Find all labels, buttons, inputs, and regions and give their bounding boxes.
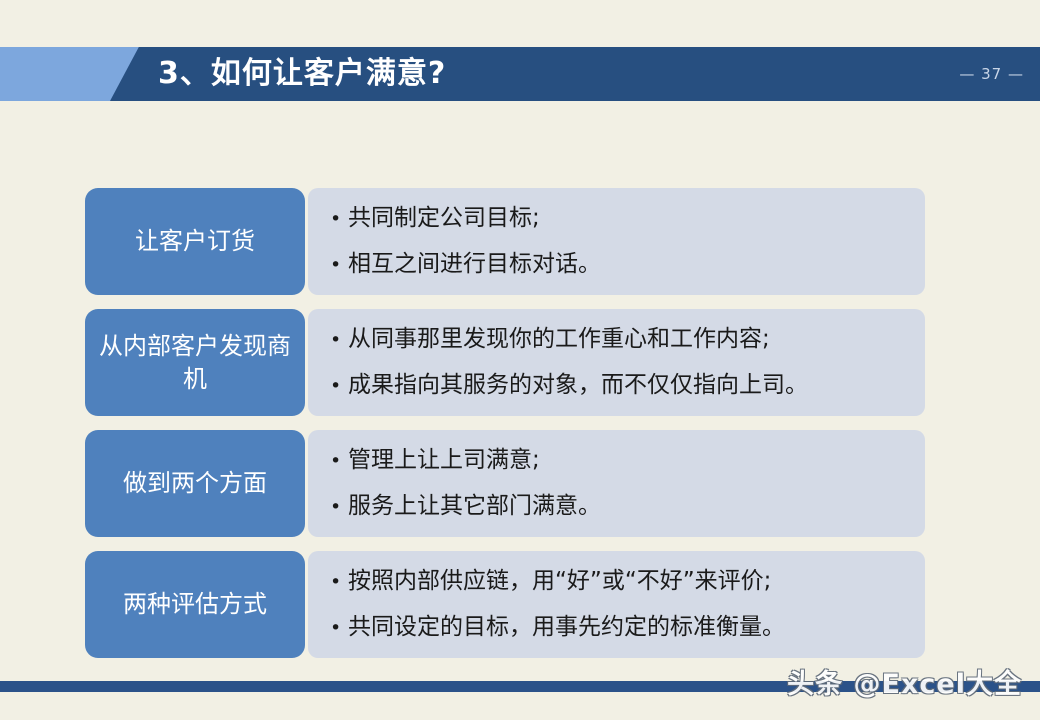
page-number: — 37 — xyxy=(959,47,1024,101)
bullet-text: 从同事那里发现你的工作重心和工作内容; xyxy=(348,324,907,355)
bullet-dot-icon: • xyxy=(330,619,348,638)
row-label: 两种评估方式 xyxy=(85,551,305,658)
bullet-dot-icon: • xyxy=(330,331,348,350)
content-rows: 让客户订货 • 共同制定公司目标; • 相互之间进行目标对话。 从内部客户发现商… xyxy=(85,188,925,672)
bullet-text: 成果指向其服务的对象，而不仅仅指向上司。 xyxy=(348,370,907,401)
bullet-item: • 共同设定的目标，用事先约定的标准衡量。 xyxy=(330,605,907,650)
bullet-text: 共同设定的目标，用事先约定的标准衡量。 xyxy=(348,612,907,643)
slide: 3、如何让客户满意? — 37 — 让客户订货 • 共同制定公司目标; • 相互… xyxy=(0,0,1040,720)
row-content: • 从同事那里发现你的工作重心和工作内容; • 成果指向其服务的对象，而不仅仅指… xyxy=(308,309,925,416)
bullet-item: • 共同制定公司目标; xyxy=(330,196,907,241)
bullet-dot-icon: • xyxy=(330,498,348,517)
bullet-dot-icon: • xyxy=(330,377,348,396)
row-label: 让客户订货 xyxy=(85,188,305,295)
bullet-item: • 服务上让其它部门满意。 xyxy=(330,484,907,529)
bullet-item: • 相互之间进行目标对话。 xyxy=(330,242,907,287)
slide-header: 3、如何让客户满意? — 37 — xyxy=(0,47,1040,101)
row-label: 从内部客户发现商机 xyxy=(85,309,305,416)
row-content: • 共同制定公司目标; • 相互之间进行目标对话。 xyxy=(308,188,925,295)
bullet-item: • 管理上让上司满意; xyxy=(330,438,907,483)
bullet-item: • 按照内部供应链，用“好”或“不好”来评价; xyxy=(330,559,907,604)
row-content: • 按照内部供应链，用“好”或“不好”来评价; • 共同设定的目标，用事先约定的… xyxy=(308,551,925,658)
content-row: 让客户订货 • 共同制定公司目标; • 相互之间进行目标对话。 xyxy=(85,188,925,295)
bullet-text: 服务上让其它部门满意。 xyxy=(348,491,907,522)
bullet-dot-icon: • xyxy=(330,256,348,275)
bullet-text: 按照内部供应链，用“好”或“不好”来评价; xyxy=(348,566,907,597)
watermark: 头条 @Excel大全 xyxy=(787,662,1022,701)
bullet-dot-icon: • xyxy=(330,573,348,592)
bullet-text: 共同制定公司目标; xyxy=(348,203,907,234)
row-label: 做到两个方面 xyxy=(85,430,305,537)
content-row: 两种评估方式 • 按照内部供应链，用“好”或“不好”来评价; • 共同设定的目标… xyxy=(85,551,925,658)
bullet-item: • 从同事那里发现你的工作重心和工作内容; xyxy=(330,317,907,362)
content-row: 做到两个方面 • 管理上让上司满意; • 服务上让其它部门满意。 xyxy=(85,430,925,537)
content-row: 从内部客户发现商机 • 从同事那里发现你的工作重心和工作内容; • 成果指向其服… xyxy=(85,309,925,416)
bullet-text: 管理上让上司满意; xyxy=(348,445,907,476)
bullet-text: 相互之间进行目标对话。 xyxy=(348,249,907,280)
bullet-dot-icon: • xyxy=(330,210,348,229)
row-content: • 管理上让上司满意; • 服务上让其它部门满意。 xyxy=(308,430,925,537)
bullet-item: • 成果指向其服务的对象，而不仅仅指向上司。 xyxy=(330,363,907,408)
page-title: 3、如何让客户满意? xyxy=(158,47,446,101)
bullet-dot-icon: • xyxy=(330,452,348,471)
